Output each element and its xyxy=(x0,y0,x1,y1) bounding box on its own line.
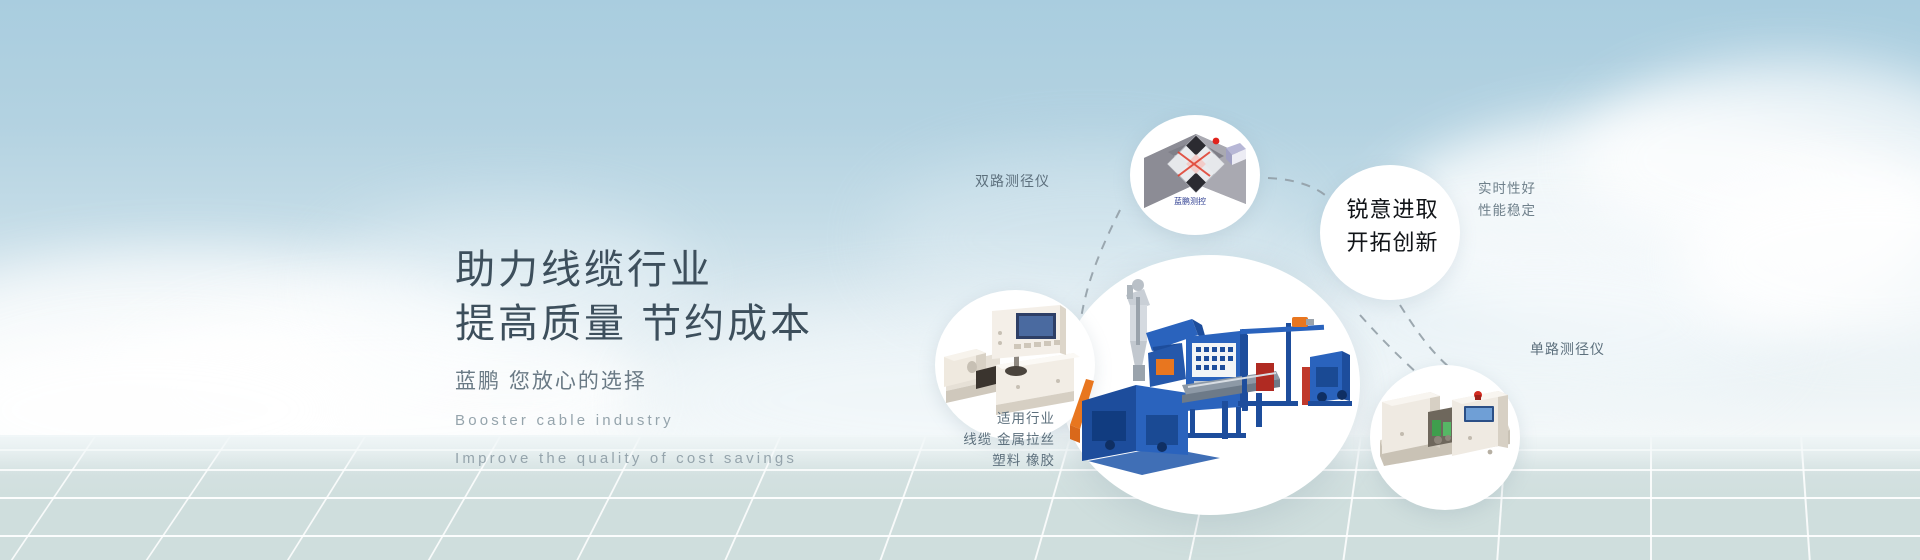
single-gauge-illustration xyxy=(1378,378,1514,488)
slogan-line-2: 开拓创新 xyxy=(1335,226,1450,259)
label-single-gauge: 单路测径仪 xyxy=(1530,338,1605,360)
label-features: 实时性好 性能稳定 xyxy=(1478,178,1536,222)
feature-line-1: 实时性好 xyxy=(1478,178,1536,200)
grid-line-horizontal xyxy=(0,535,1920,537)
measuring-instrument-illustration xyxy=(942,305,1092,423)
industry-title: 适用行业 xyxy=(865,408,1055,429)
label-industries: 适用行业 线缆 金属拉丝 塑料 橡胶 xyxy=(865,408,1055,471)
extrusion-line-illustration xyxy=(1070,275,1355,490)
industry-line-2: 塑料 橡胶 xyxy=(865,450,1055,471)
dash-slogan-to-right xyxy=(1400,305,1455,372)
industry-line-1: 线缆 金属拉丝 xyxy=(865,429,1055,450)
hero-banner: 助力线缆行业 提高质量 节约成本 蓝鹏 您放心的选择 Booster cable… xyxy=(0,0,1920,560)
slogan-block: 锐意进取 开拓创新 xyxy=(1335,193,1450,259)
product-cluster: 蓝鹏测控 xyxy=(880,60,1920,530)
device-brand-text: 蓝鹏测控 xyxy=(1174,196,1206,206)
label-dual-gauge: 双路测径仪 xyxy=(975,170,1050,192)
feature-line-2: 性能稳定 xyxy=(1478,200,1536,222)
slogan-line-1: 锐意进取 xyxy=(1335,193,1450,226)
dual-gauge-device-illustration: 蓝鹏测控 xyxy=(1138,122,1254,227)
